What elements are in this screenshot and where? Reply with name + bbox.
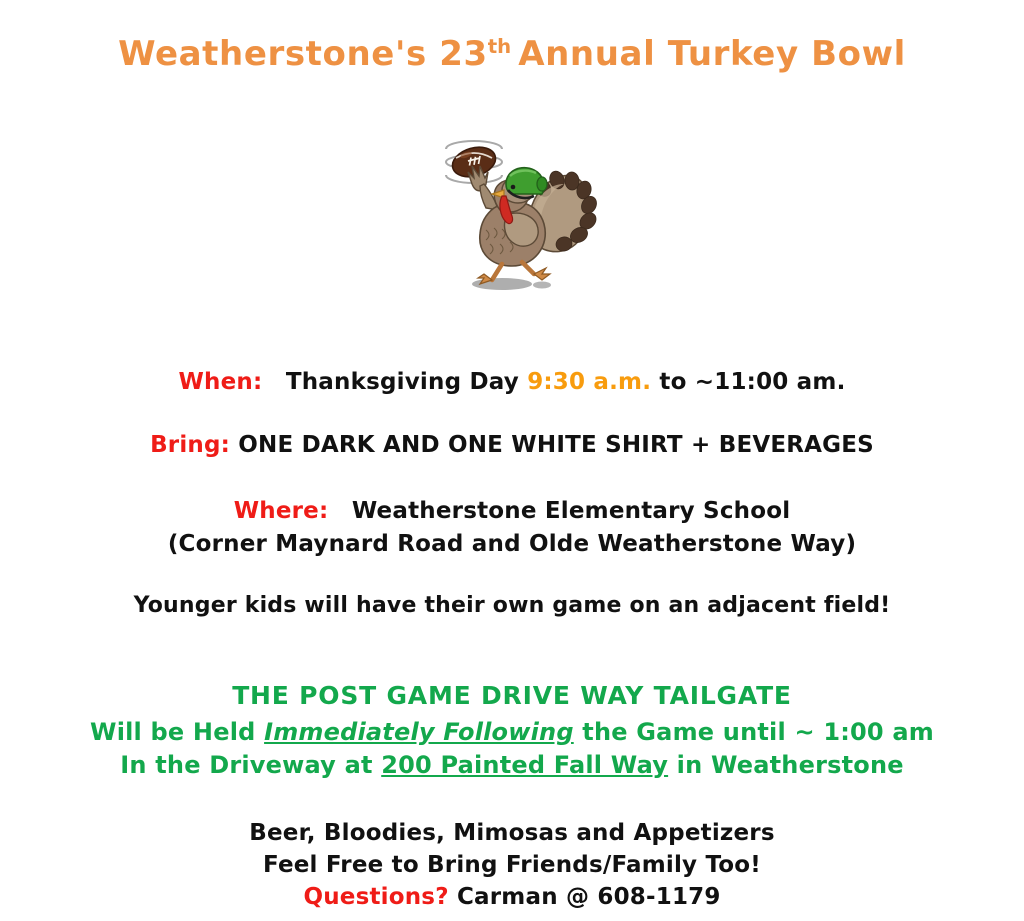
tailgate-driveway-line: In the Driveway at 200 Painted Fall Way … (0, 751, 1024, 779)
tailgate-held-emphasis: Immediately Following (264, 718, 574, 746)
tailgate-driveway-suffix: in Weatherstone (677, 751, 904, 779)
where-venue: Weatherstone Elementary School (352, 498, 791, 524)
when-label: When: (178, 369, 262, 395)
when-day: Thanksgiving Day (286, 369, 519, 395)
contact-line: Questions? Carman @ 608-1179 (0, 884, 1024, 910)
flyer-page: Weatherstone's 23thAnnual Turkey Bowl (0, 0, 1024, 921)
where-cross-streets: (Corner Maynard Road and Olde Weathersto… (0, 531, 1024, 557)
turkey-illustration (0, 132, 1024, 306)
title-text: Weatherstone's 23thAnnual Turkey Bowl (118, 34, 906, 74)
bring-items: ONE DARK AND ONE WHITE SHIRT + BEVERAGES (238, 432, 874, 458)
when-end-time: to ~11:00 am. (659, 369, 845, 395)
tailgate-driveway-address: 200 Painted Fall Way (381, 751, 668, 779)
tailgate-held-line: Will be Held Immediately Following the G… (0, 718, 1024, 746)
page-title: Weatherstone's 23thAnnual Turkey Bowl (0, 34, 1024, 74)
when-line: When: Thanksgiving Day 9:30 a.m. to ~11:… (0, 369, 1024, 395)
turkey-eye (511, 185, 516, 190)
football-helmet-icon (506, 168, 547, 198)
contact-details: Carman @ 608-1179 (457, 884, 721, 910)
bring-line: Bring: ONE DARK AND ONE WHITE SHIRT + BE… (0, 432, 1024, 458)
turkey-icon (422, 132, 602, 302)
tailgate-driveway-prefix: In the Driveway at (120, 751, 372, 779)
shadow-ellipse-small (533, 282, 551, 289)
refreshments-invite: Feel Free to Bring Friends/Family Too! (0, 852, 1024, 878)
tailgate-held-suffix: the Game until ~ 1:00 am (582, 718, 934, 746)
contact-label: Questions? (303, 884, 448, 910)
younger-kids-note: Younger kids will have their own game on… (0, 593, 1024, 618)
tailgate-heading: THE POST GAME DRIVE WAY TAILGATE (0, 681, 1024, 710)
title-lead: Weatherstone's 23 (118, 34, 488, 74)
where-line: Where: Weatherstone Elementary School (0, 498, 1024, 524)
bring-label: Bring: (150, 432, 230, 458)
when-start-time: 9:30 a.m. (527, 369, 651, 395)
tailgate-held-prefix: Will be Held (90, 718, 256, 746)
title-trail: Annual Turkey Bowl (518, 34, 906, 74)
where-label: Where: (234, 498, 329, 524)
title-ordinal-suffix: th (488, 35, 511, 58)
refreshments-items: Beer, Bloodies, Mimosas and Appetizers (0, 820, 1024, 846)
helmet-ear-pad (537, 177, 547, 191)
